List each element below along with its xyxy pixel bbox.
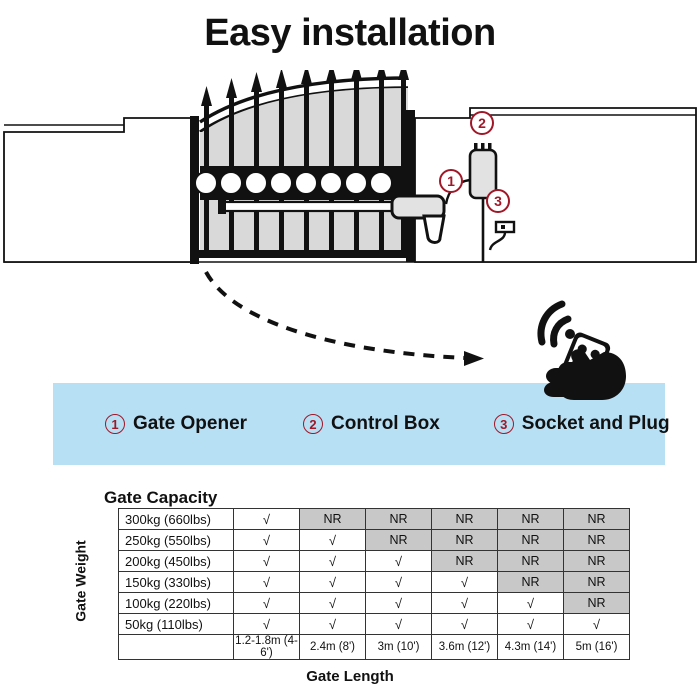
cell-not-recommended: NR <box>564 509 630 530</box>
page-title: Easy installation <box>0 12 700 55</box>
cell-supported: √ <box>300 614 366 635</box>
legend-item-control-box: 2 Control Box <box>303 413 440 435</box>
table-row: 250kg (550lbs)√√NRNRNRNR <box>119 530 630 551</box>
callout-3: 3 <box>487 190 509 212</box>
cell-supported: √ <box>234 614 300 635</box>
cell-supported: √ <box>300 572 366 593</box>
cell-not-recommended: NR <box>498 509 564 530</box>
gate-length-axis-label: Gate Length <box>0 668 700 685</box>
cell-supported: √ <box>234 572 300 593</box>
cell-not-recommended: NR <box>498 551 564 572</box>
cell-supported: √ <box>366 614 432 635</box>
legend-label-gate-opener: Gate Opener <box>133 413 247 435</box>
gate-length-header-cell: 5m (16') <box>564 635 630 660</box>
table-row: 150kg (330lbs)√√√√NRNR <box>119 572 630 593</box>
cell-supported: √ <box>498 614 564 635</box>
cell-supported: √ <box>432 572 498 593</box>
legend-marker-3-icon: 3 <box>494 414 514 434</box>
callout-1: 1 <box>440 170 462 192</box>
cell-supported: √ <box>234 593 300 614</box>
table-row: 200kg (450lbs)√√√NRNRNR <box>119 551 630 572</box>
cell-supported: √ <box>300 530 366 551</box>
cell-supported: √ <box>234 551 300 572</box>
legend-marker-2-icon: 2 <box>303 414 323 434</box>
cell-not-recommended: NR <box>498 572 564 593</box>
cell-not-recommended: NR <box>432 551 498 572</box>
cell-supported: √ <box>234 509 300 530</box>
table-footer-row: 1.2-1.8m (4-6')2.4m (8')3m (10')3.6m (12… <box>119 635 630 660</box>
table-row: 100kg (220lbs)√√√√√NR <box>119 593 630 614</box>
gate-weight-axis-label: Gate Weight <box>70 508 92 653</box>
legend-label-control-box: Control Box <box>331 413 440 435</box>
gate-bottom-rail <box>198 250 410 258</box>
cell-supported: √ <box>366 572 432 593</box>
cell-not-recommended: NR <box>300 509 366 530</box>
gate-weight-cell: 300kg (660lbs) <box>119 509 234 530</box>
gate-capacity-heading: Gate Capacity <box>104 488 217 508</box>
cell-not-recommended: NR <box>366 530 432 551</box>
legend-label-socket-and-plug: Socket and Plug <box>522 413 670 435</box>
table-corner-cell <box>119 635 234 660</box>
svg-text:2: 2 <box>478 115 486 131</box>
gate-length-header-cell: 2.4m (8') <box>300 635 366 660</box>
cell-not-recommended: NR <box>564 593 630 614</box>
cell-not-recommended: NR <box>498 530 564 551</box>
callout-2: 2 <box>471 112 493 134</box>
cell-supported: √ <box>366 551 432 572</box>
gate-panel <box>195 70 410 258</box>
table-row: 300kg (660lbs)√NRNRNRNRNR <box>119 509 630 530</box>
gate-weight-cell: 100kg (220lbs) <box>119 593 234 614</box>
gate-weight-cell: 50kg (110lbs) <box>119 614 234 635</box>
cell-not-recommended: NR <box>366 509 432 530</box>
table-row: 50kg (110lbs)√√√√√√ <box>119 614 630 635</box>
gate-weight-cell: 150kg (330lbs) <box>119 572 234 593</box>
cell-not-recommended: NR <box>564 551 630 572</box>
opener-bracket <box>424 216 444 243</box>
right-gate-post <box>406 110 415 262</box>
svg-text:1: 1 <box>447 173 455 189</box>
gate-length-header-cell: 3.6m (12') <box>432 635 498 660</box>
gate-length-header-cell: 4.3m (14') <box>498 635 564 660</box>
gate-swing-arrow <box>206 272 484 366</box>
gate-weight-cell: 250kg (550lbs) <box>119 530 234 551</box>
remote-control-with-signal-icon <box>512 296 632 400</box>
capacity-table-body: 300kg (660lbs)√NRNRNRNRNR250kg (550lbs)√… <box>119 509 630 660</box>
cell-supported: √ <box>234 530 300 551</box>
cell-supported: √ <box>432 593 498 614</box>
cell-supported: √ <box>366 593 432 614</box>
cell-supported: √ <box>498 593 564 614</box>
cell-not-recommended: NR <box>564 530 630 551</box>
cell-not-recommended: NR <box>432 509 498 530</box>
cell-supported: √ <box>300 551 366 572</box>
cell-supported: √ <box>300 593 366 614</box>
gate-capacity-table: 300kg (660lbs)√NRNRNRNRNR250kg (550lbs)√… <box>118 508 630 660</box>
cell-supported: √ <box>432 614 498 635</box>
cell-not-recommended: NR <box>564 572 630 593</box>
cell-not-recommended: NR <box>432 530 498 551</box>
gate-length-header-cell: 1.2-1.8m (4-6') <box>234 635 300 660</box>
left-wall <box>4 118 196 262</box>
legend-item-socket-and-plug: 3 Socket and Plug <box>494 413 670 435</box>
gate-length-header-cell: 3m (10') <box>366 635 432 660</box>
gate-weight-cell: 200kg (450lbs) <box>119 551 234 572</box>
cell-supported: √ <box>564 614 630 635</box>
svg-text:3: 3 <box>494 193 502 209</box>
legend-item-gate-opener: 1 Gate Opener <box>105 413 247 435</box>
legend-marker-1-icon: 1 <box>105 414 125 434</box>
